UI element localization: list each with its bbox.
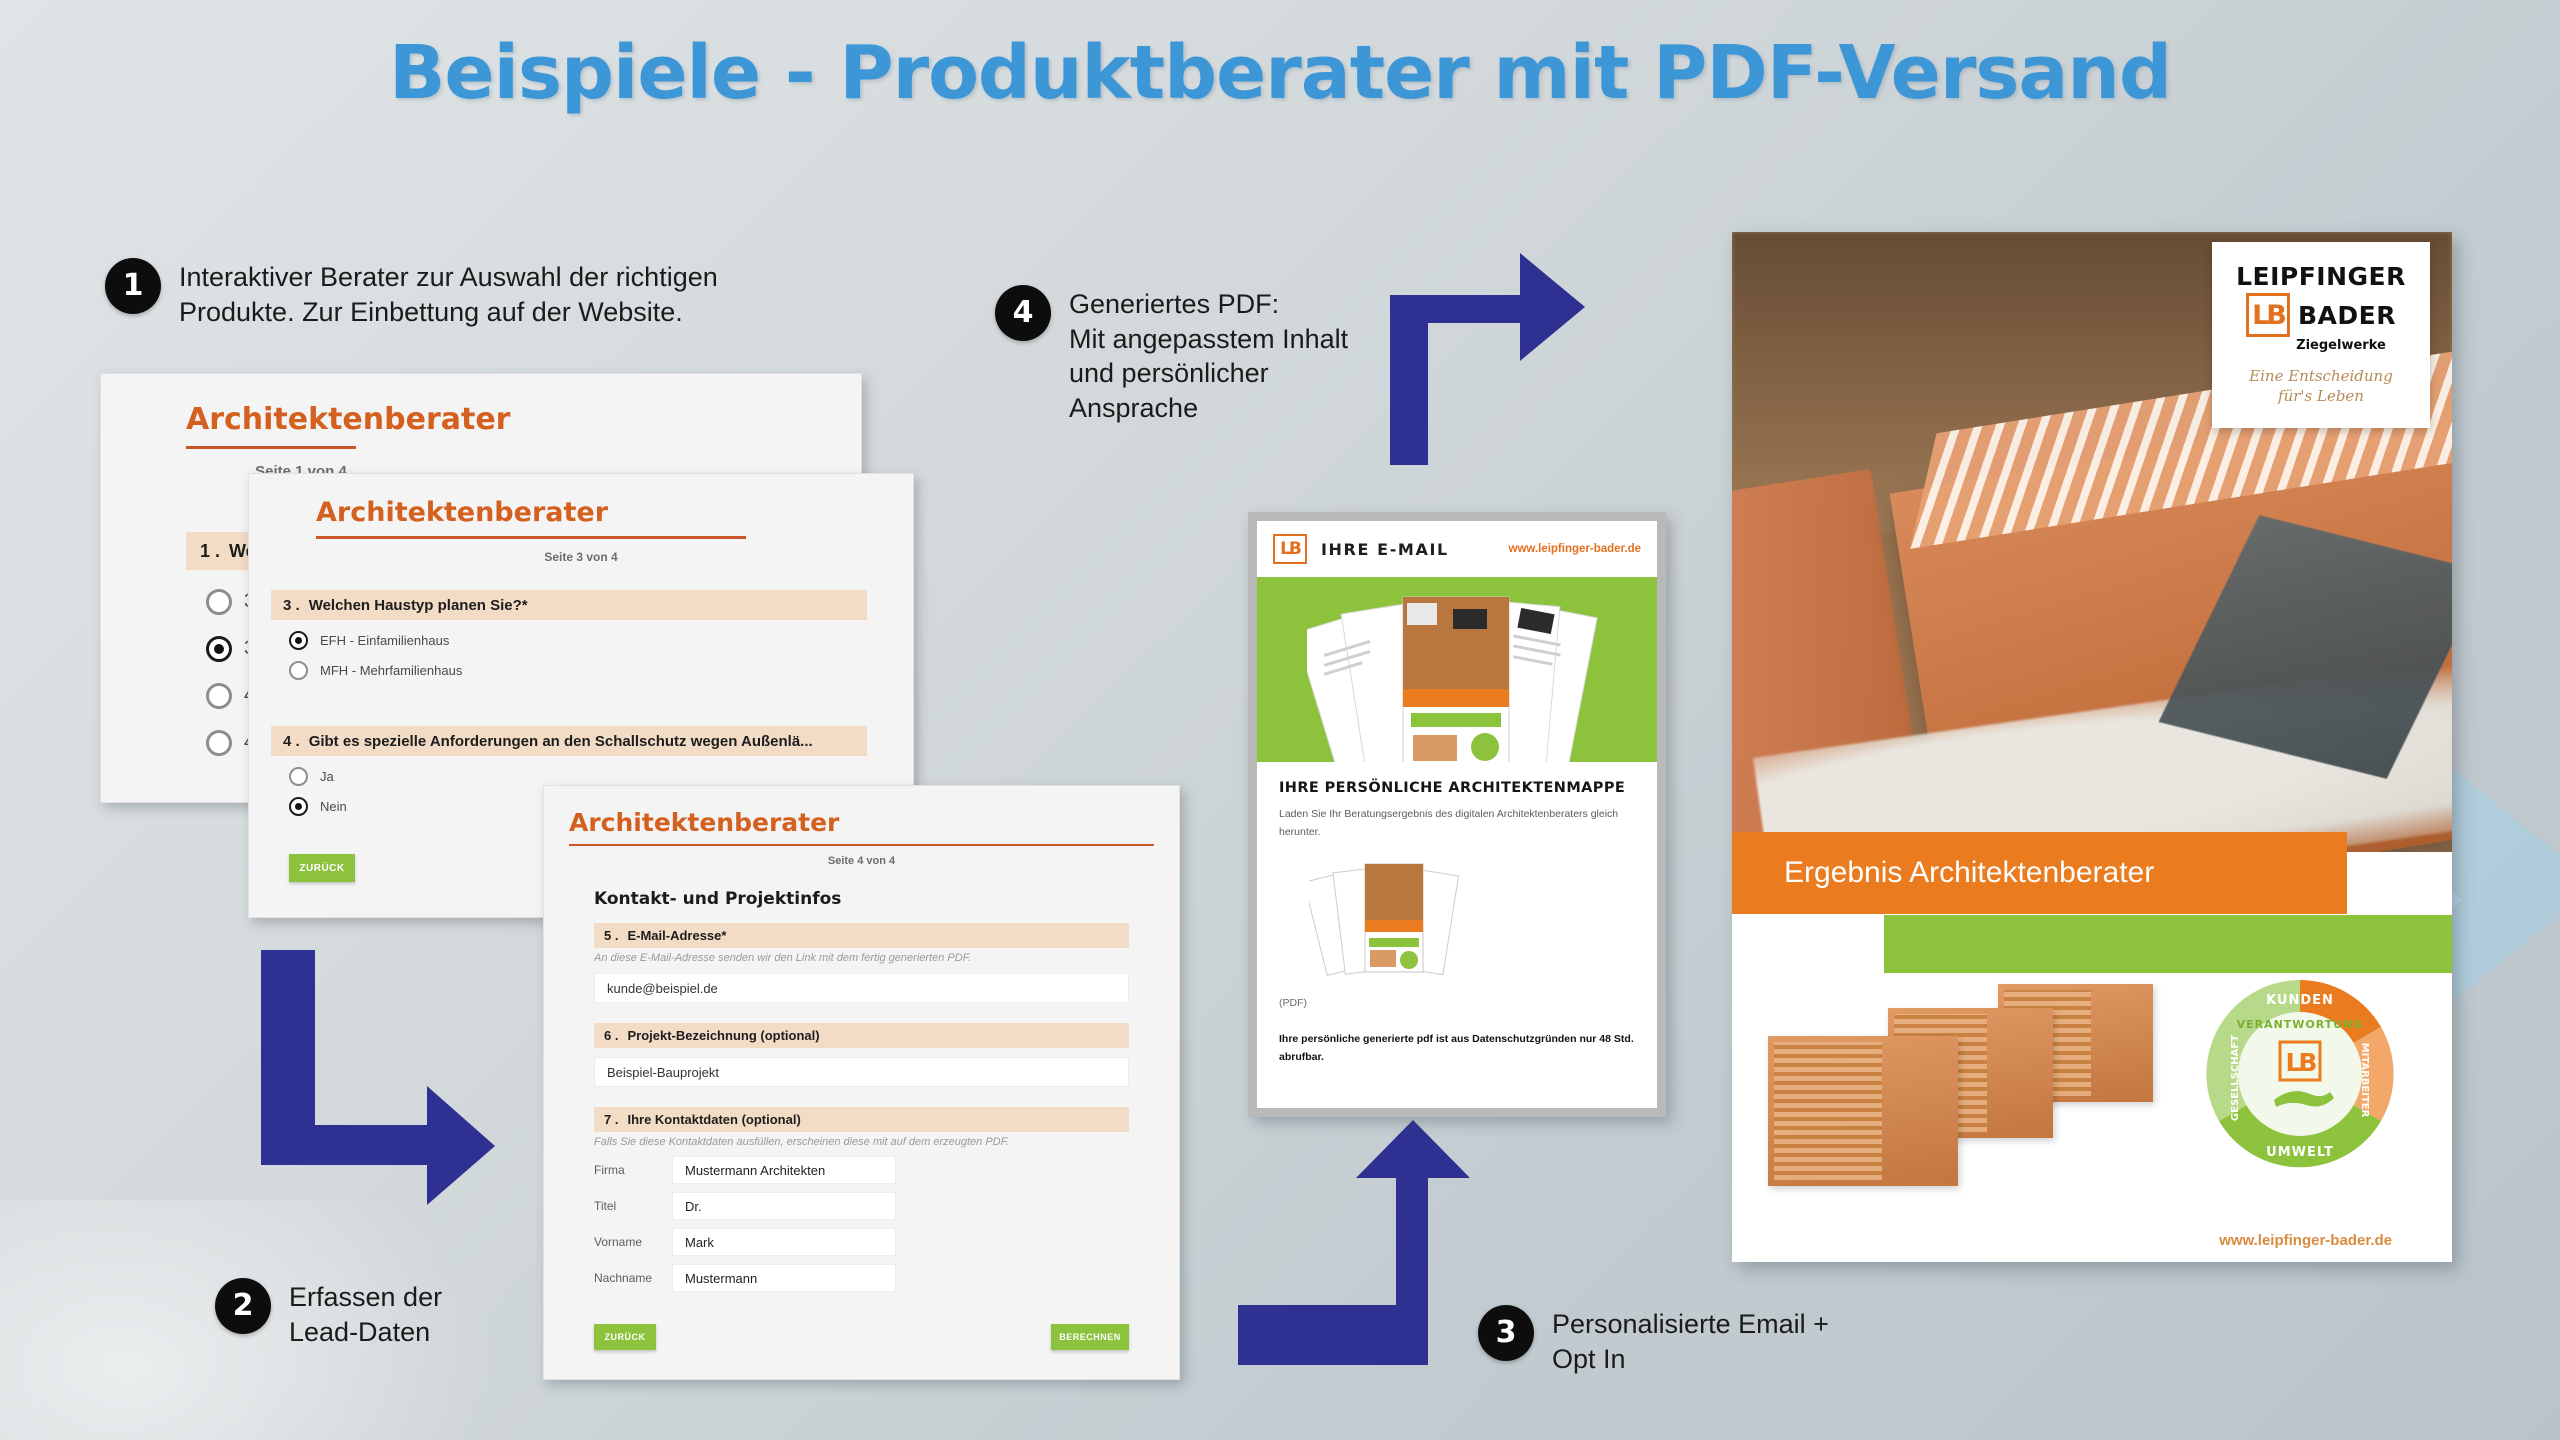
brand-line1: LEIPFINGER bbox=[2236, 262, 2406, 291]
contact-row-company: Firma Mustermann Architekten bbox=[594, 1156, 1179, 1184]
card2-q3-option-1-label: MFH - Mehrfamilienhaus bbox=[320, 663, 462, 678]
step-text-3: Personalisierte Email + Opt In bbox=[1552, 1305, 1829, 1376]
svg-text:MITARBEITER: MITARBEITER bbox=[2359, 1043, 2370, 1118]
card3-button-row: ZURÜCK BERECHNEN bbox=[594, 1324, 1129, 1350]
card2-q4-option-0[interactable]: Ja bbox=[289, 767, 913, 786]
radio-icon[interactable] bbox=[206, 589, 232, 615]
brand-slogan: Eine Entscheidung für's Leben bbox=[2249, 366, 2393, 407]
card3-submit-button[interactable]: BERECHNEN bbox=[1051, 1324, 1129, 1350]
card3-section-heading: Kontakt- und Projektinfos bbox=[594, 889, 1179, 909]
step-badge-4: 4 bbox=[995, 285, 1051, 341]
card2-question4-number: 4 . bbox=[283, 733, 300, 750]
card2-q4-option-1-label: Nein bbox=[320, 799, 347, 814]
card3-question7-hint: Falls Sie diese Kontaktdaten ausfüllen, … bbox=[594, 1136, 1179, 1148]
card2-back-button[interactable]: ZURÜCK bbox=[289, 854, 355, 882]
svg-text:VERANTWORTUNG: VERANTWORTUNG bbox=[2237, 1018, 2364, 1031]
card2-q4-option-0-label: Ja bbox=[320, 769, 334, 784]
label-firstname: Vorname bbox=[594, 1235, 656, 1249]
pdf-thumbnail-icon[interactable] bbox=[1309, 858, 1459, 978]
card1-question-number: 1 . bbox=[200, 541, 220, 562]
email-header-title: IHRE E-MAIL bbox=[1321, 540, 1449, 559]
leipfinger-bader-logo-icon: LB bbox=[1273, 534, 1307, 564]
card2-question3-options: EFH - Einfamilienhaus MFH - Mehrfamilien… bbox=[289, 631, 913, 680]
email-mockup: LB IHRE E-MAIL www.leipfinger-bader.de bbox=[1248, 512, 1666, 1117]
lastname-field[interactable]: Mustermann bbox=[672, 1264, 896, 1292]
contact-row-firstname: Vorname Mark bbox=[594, 1228, 1179, 1256]
contact-row-lastname: Nachname Mustermann bbox=[594, 1264, 1179, 1292]
label-lastname: Nachname bbox=[594, 1271, 656, 1285]
form-card-page4[interactable]: Architektenberater Seite 4 von 4 Kontakt… bbox=[543, 785, 1180, 1380]
card2-q3-option-1[interactable]: MFH - Mehrfamilienhaus bbox=[289, 661, 913, 680]
email-notice: Ihre persönliche generierte pdf ist aus … bbox=[1279, 1031, 1635, 1067]
email-sheet: LB IHRE E-MAIL www.leipfinger-bader.de bbox=[1257, 521, 1657, 1108]
step-badge-1: 1 bbox=[105, 258, 161, 314]
card2-page-indicator: Seite 3 von 4 bbox=[249, 550, 913, 564]
step-callout-3: 3 Personalisierte Email + Opt In bbox=[1478, 1305, 1948, 1376]
leipfinger-bader-logo-icon: LB bbox=[2246, 293, 2290, 337]
card3-back-button[interactable]: ZURÜCK bbox=[594, 1324, 656, 1350]
card2-q3-option-0-label: EFH - Einfamilienhaus bbox=[320, 633, 449, 648]
email-body: IHRE PERSÖNLICHE ARCHITEKTENMAPPE Laden … bbox=[1257, 762, 1657, 1066]
card3-question5-hint: An diese E-Mail-Adresse senden wir den L… bbox=[594, 952, 1179, 964]
card3-question6-text: Projekt-Bezeichnung (optional) bbox=[627, 1028, 819, 1043]
pdf-green-bar bbox=[1884, 915, 2452, 973]
card3-question7-text: Ihre Kontaktdaten (optional) bbox=[627, 1112, 800, 1127]
svg-text:UMWELT: UMWELT bbox=[2266, 1145, 2334, 1160]
card3-question6-bar: 6 . Projekt-Bezeichnung (optional) bbox=[594, 1023, 1129, 1048]
card3-question5-number: 5 . bbox=[604, 928, 618, 943]
card2-question3-number: 3 . bbox=[283, 597, 300, 614]
label-company: Firma bbox=[594, 1163, 656, 1177]
step-badge-2: 2 bbox=[215, 1278, 271, 1334]
step-callout-4: 4 Generiertes PDF: Mit angepasstem Inhal… bbox=[995, 285, 1425, 425]
card1-rule bbox=[186, 446, 356, 449]
email-header-url: www.leipfinger-bader.de bbox=[1509, 543, 1642, 555]
step-callout-1: 1 Interaktiver Berater zur Auswahl der r… bbox=[105, 258, 785, 329]
card2-question3-text: Welchen Haustyp planen Sie?* bbox=[309, 597, 528, 614]
spacer bbox=[249, 680, 913, 700]
card3-question5-text: E-Mail-Adresse* bbox=[627, 928, 726, 943]
card3-rule bbox=[569, 844, 1154, 846]
card1-title: Architektenberater bbox=[186, 402, 861, 437]
email-body-title: IHRE PERSÖNLICHE ARCHITEKTENMAPPE bbox=[1279, 780, 1635, 796]
step-text-2: Erfassen der Lead-Daten bbox=[289, 1278, 442, 1349]
brand-subtitle: Ziegelwerke bbox=[2296, 338, 2386, 353]
email-field[interactable]: kunde@beispiel.de bbox=[594, 973, 1129, 1003]
radio-icon[interactable] bbox=[289, 631, 308, 650]
contact-row-title: Titel Dr. bbox=[594, 1192, 1179, 1220]
radio-icon[interactable] bbox=[289, 661, 308, 680]
card3-question6-number: 6 . bbox=[604, 1028, 618, 1043]
radio-icon[interactable] bbox=[206, 683, 232, 709]
email-body-text: Laden Sie Ihr Beratungsergebnis des digi… bbox=[1279, 806, 1635, 842]
svg-text:GESELLSCHAFT: GESELLSCHAFT bbox=[2230, 1035, 2241, 1121]
pdf-footer-url: www.leipfinger-bader.de bbox=[2219, 1232, 2392, 1249]
pdf-result-page: LEIPFINGER LB BADER Ziegelwerke Eine Ent… bbox=[1732, 232, 2452, 1262]
card2-rule bbox=[316, 536, 746, 539]
brand-line2: BADER bbox=[2298, 301, 2396, 330]
card2-question3-bar: 3 . Welchen Haustyp planen Sie?* bbox=[271, 590, 867, 620]
verantwortung-plus-wheel-icon: LB KUNDEN UMWELT MITARBEITER GESELLSCHAF… bbox=[2200, 974, 2400, 1174]
arrow-to-pdf bbox=[1370, 235, 1590, 465]
document-fan-illustration bbox=[1307, 585, 1607, 762]
step-text-4: Generiertes PDF: Mit angepasstem Inhalt … bbox=[1069, 285, 1348, 425]
brand-row2: LB BADER bbox=[2246, 293, 2396, 337]
svg-text:LB: LB bbox=[2286, 1048, 2317, 1077]
email-hero-banner bbox=[1257, 577, 1657, 762]
arrow-to-email bbox=[1238, 1120, 1488, 1370]
brick-sample-1 bbox=[1768, 1036, 1958, 1186]
card3-title: Architektenberater bbox=[569, 808, 1179, 837]
card2-title: Architektenberater bbox=[316, 497, 913, 528]
radio-icon[interactable] bbox=[206, 636, 232, 662]
label-title: Titel bbox=[594, 1199, 656, 1213]
card3-page-indicator: Seite 4 von 4 bbox=[544, 855, 1179, 867]
pdf-result-banner: Ergebnis Architektenberater bbox=[1732, 832, 2347, 914]
company-field[interactable]: Mustermann Architekten bbox=[672, 1156, 896, 1184]
pdf-brick-samples bbox=[1768, 984, 2188, 1204]
arrow-to-form bbox=[255, 950, 500, 1215]
card2-q3-option-0[interactable]: EFH - Einfamilienhaus bbox=[289, 631, 913, 650]
project-name-field[interactable]: Beispiel-Bauprojekt bbox=[594, 1057, 1129, 1087]
card3-question7-bar: 7 . Ihre Kontaktdaten (optional) bbox=[594, 1107, 1129, 1132]
card2-question4-text: Gibt es spezielle Anforderungen an den S… bbox=[309, 733, 813, 750]
card3-question5-bar: 5 . E-Mail-Adresse* bbox=[594, 923, 1129, 948]
email-pdf-label: (PDF) bbox=[1279, 997, 1635, 1009]
radio-icon[interactable] bbox=[289, 767, 308, 786]
radio-icon[interactable] bbox=[289, 797, 308, 816]
title-field[interactable]: Dr. bbox=[672, 1192, 896, 1220]
page-title: Beispiele - Produktberater mit PDF-Versa… bbox=[0, 30, 2560, 116]
email-header: LB IHRE E-MAIL www.leipfinger-bader.de bbox=[1257, 521, 1657, 577]
firstname-field[interactable]: Mark bbox=[672, 1228, 896, 1256]
svg-text:KUNDEN: KUNDEN bbox=[2266, 993, 2334, 1008]
pdf-logo-card: LEIPFINGER LB BADER Ziegelwerke Eine Ent… bbox=[2212, 242, 2430, 428]
card3-question7-number: 7 . bbox=[604, 1112, 618, 1127]
radio-icon[interactable] bbox=[206, 730, 232, 756]
step-text-1: Interaktiver Berater zur Auswahl der ric… bbox=[179, 258, 718, 329]
card2-question4-bar: 4 . Gibt es spezielle Anforderungen an d… bbox=[271, 726, 867, 756]
